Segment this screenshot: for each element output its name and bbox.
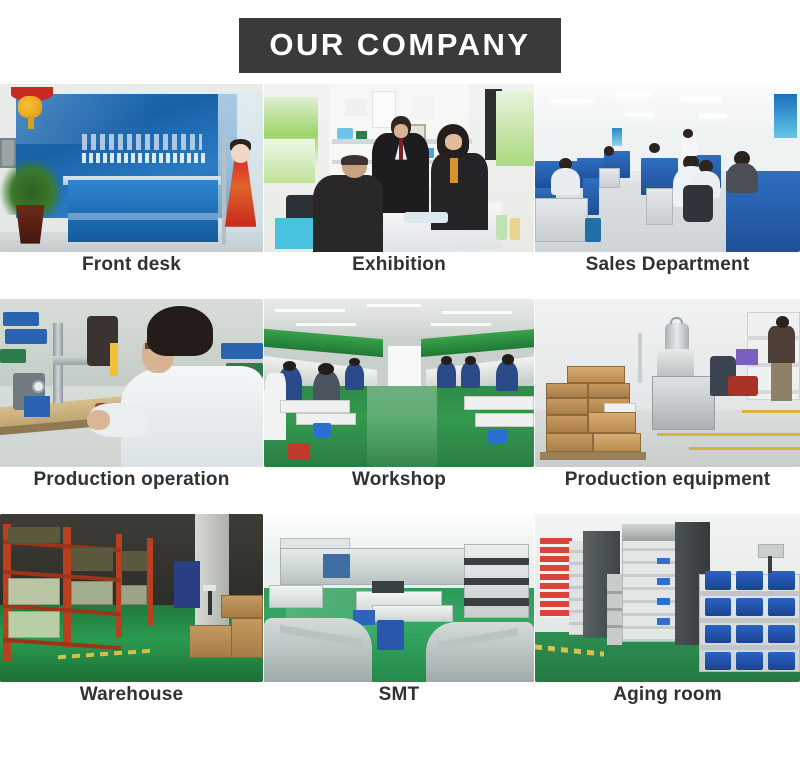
workshop-aisle-reflection [367,386,437,467]
caption-sales-department: Sales Department [535,254,800,276]
rack-tray-2 [464,578,529,586]
instrument-display-3 [657,598,670,605]
wooden-pallet [540,452,646,460]
battery-unit-9 [768,625,795,643]
photo-production-equipment[interactable] [535,299,800,467]
table-documents [404,212,447,224]
ceiling-light-2 [615,92,652,96]
battery-unit-5 [736,598,763,616]
stool-2 [288,443,310,458]
bench-table-1 [280,400,350,413]
display-product-2 [356,131,367,139]
caption-production-operation: Production operation [0,469,263,491]
operator-hand [87,410,111,430]
photo-exhibition[interactable] [264,84,534,252]
booth-poster-2 [410,96,434,120]
stool-1 [313,423,332,436]
gallery-cell-aging-room[interactable]: Aging room [535,514,800,729]
booth-poster-3 [345,99,367,116]
machine-cylinder [665,323,689,353]
machine-upper-housing [657,349,694,379]
parts-bin-4 [221,343,263,360]
employee-body-1 [551,168,580,195]
solder-flux-tube [110,343,118,377]
worker-4-head [441,356,452,364]
ladder-rung-1 [607,591,623,594]
machine-handle [670,317,683,324]
ladder-rung-3 [607,625,623,628]
standing-man-face [394,124,409,137]
scale-post [208,591,212,615]
water-bottle-2 [510,218,521,240]
battery-unit-10 [705,652,732,670]
ceiling-tube-3 [442,311,512,314]
lantern-tassel [28,116,35,129]
battery-unit-11 [736,652,763,670]
workshop-doorway [388,346,420,390]
battery-unit-8 [736,625,763,643]
bench-table-3 [464,396,534,409]
equipment-stand-pole [638,333,642,383]
ceiling-light-4 [625,113,654,117]
photo-workshop[interactable] [264,299,534,467]
worker-3 [345,363,364,390]
floor-marking-2 [689,447,800,450]
stored-goods-3 [8,611,61,638]
stool-3 [488,430,507,443]
carton-5 [546,415,588,433]
office-chair [683,185,712,222]
caption-front-desk: Front desk [0,254,263,276]
stored-goods-6 [121,551,147,571]
ceiling-tube-1 [275,309,345,312]
warehouse-scale [203,585,216,592]
worker-6 [496,361,518,391]
storage-cabinet-1 [535,198,588,242]
woman-lanyard [450,156,458,183]
floor-marking-1 [657,433,800,436]
photo-production-operation[interactable] [0,299,263,467]
ceiling-light-5 [699,114,726,118]
gallery-cell-production-equipment[interactable]: Production equipment [535,299,800,514]
stored-goods-7 [121,585,147,605]
wall-poster-center [612,128,623,146]
aging-shelf-board-2 [699,618,800,623]
red-lantern-icon [18,96,42,118]
warehouse-carton-3 [231,618,263,658]
aging-shelf-board-3 [699,645,800,650]
caption-aging-room: Aging room [535,684,800,706]
company-gallery-page: OUR COMPANY [0,0,800,759]
gallery-cell-production-operation[interactable]: Production operation [0,299,263,514]
smt-dark-module [372,581,404,593]
battery-unit-12 [768,652,795,670]
rack-tray-1 [464,558,529,566]
parts-bin-3 [0,349,26,362]
worker-5-head [465,356,476,364]
photo-sales-department[interactable] [535,84,800,252]
photo-warehouse[interactable] [0,514,263,682]
bench-table-4 [475,413,534,426]
blue-stock-stack [174,561,200,608]
water-bottle-1 [496,215,507,240]
aging-test-instrument-stack [622,524,680,642]
stored-goods-4 [71,548,113,572]
carton-top [567,366,625,383]
worker-3-head [349,358,360,366]
gallery-cell-sales-department[interactable]: Sales Department [535,84,800,299]
floor-marking-3 [742,410,800,413]
caption-exhibition: Exhibition [264,254,534,276]
english-signage-text [82,153,208,163]
operator-hair [147,306,213,356]
page-title: OUR COMPANY [239,18,560,73]
carton-6 [588,412,636,434]
reflow-oven [280,548,474,585]
battery-unit-4 [705,598,732,616]
warehouse-carton-1 [221,595,263,619]
booth-panel-right [496,91,534,167]
page-header: OUR COMPANY [0,18,800,73]
ceiling-tube-5 [431,323,490,326]
photo-front-desk[interactable] [0,84,263,252]
blue-stool [377,620,404,650]
photo-smt[interactable] [264,514,534,682]
technician-legs [771,361,792,401]
rack-upright-4 [147,538,152,625]
battery-unit-2 [736,571,763,589]
chinese-signage-text [82,134,203,149]
standing-employee-head [683,129,692,137]
desk-unit [599,168,620,188]
machine-cabinet [652,376,716,430]
company-photo-grid: Front desk [0,84,800,729]
photo-aging-room[interactable] [535,514,800,682]
aging-shelf-board-1 [699,591,800,596]
technician-head [776,316,789,328]
gallery-cell-smt[interactable]: SMT [264,514,534,729]
ladder-rung-2 [607,608,623,611]
oven-blue-section [323,554,350,578]
battery-unit-3 [768,571,795,589]
caption-smt: SMT [264,684,534,706]
smt-work-table-2 [372,605,453,622]
standing-man-tie [399,138,403,160]
worker-4 [437,361,456,388]
red-tray-stack [540,538,572,619]
worker-6-head [502,354,514,364]
carton-8 [593,433,641,451]
technician-body [768,326,795,363]
storage-cabinet-2 [646,188,673,225]
employee-head-3 [649,143,660,153]
glass-door-pole [222,134,226,245]
battery-unit-7 [705,625,732,643]
warehouse-carton-2 [189,625,236,659]
ceiling-tube-4 [296,323,355,326]
worker-2-head [318,363,334,375]
carton-2 [588,383,630,398]
parts-bin-1 [3,312,40,325]
wall-poster-right [774,94,798,138]
display-product-1 [337,128,353,140]
battery-unit-1 [705,571,732,589]
seated-man-body [313,175,383,252]
ceiling-light-3 [681,97,721,101]
stored-goods-1 [8,527,61,542]
woman-face [445,134,463,149]
caption-warehouse: Warehouse [0,684,263,706]
machine-blue-module [24,396,50,416]
kimono-doll-head [231,144,249,162]
carton-3 [546,398,588,415]
gallery-cell-warehouse[interactable]: Warehouse [0,514,263,729]
parts-bin-2 [5,329,47,344]
waste-bin [585,218,601,242]
counter-trim [68,213,218,220]
gallery-cell-front-desk[interactable]: Front desk [0,84,263,299]
carton-7 [546,433,594,451]
seated-man-hair [341,155,368,165]
smt-work-table-3 [269,585,323,609]
battery-unit-6 [768,598,795,616]
stored-goods-2 [8,578,61,605]
ceiling-light-1 [551,99,593,103]
carton-1 [546,383,588,398]
instrument-top-unit [622,524,680,541]
instrument-display-4 [657,618,670,625]
pressure-gauge-icon [32,380,45,393]
ceiling-tube-2 [367,304,421,307]
instrument-display-2 [657,578,670,585]
caption-workshop: Workshop [264,469,534,491]
employee-body-5 [726,163,758,193]
rack-tray-3 [464,598,529,606]
worker-5 [461,361,480,388]
booth-panel-left-lower [264,139,315,183]
stored-goods-5 [71,581,113,605]
reception-counter [68,180,218,242]
gallery-cell-exhibition[interactable]: Exhibition [264,84,534,299]
control-box-cable [768,556,772,573]
red-equipment-unit [728,376,757,396]
gallery-cell-workshop[interactable]: Workshop [264,299,534,514]
caption-production-equipment: Production equipment [535,469,800,491]
uv-light-glow [736,349,757,364]
instrument-display-1 [657,558,670,565]
